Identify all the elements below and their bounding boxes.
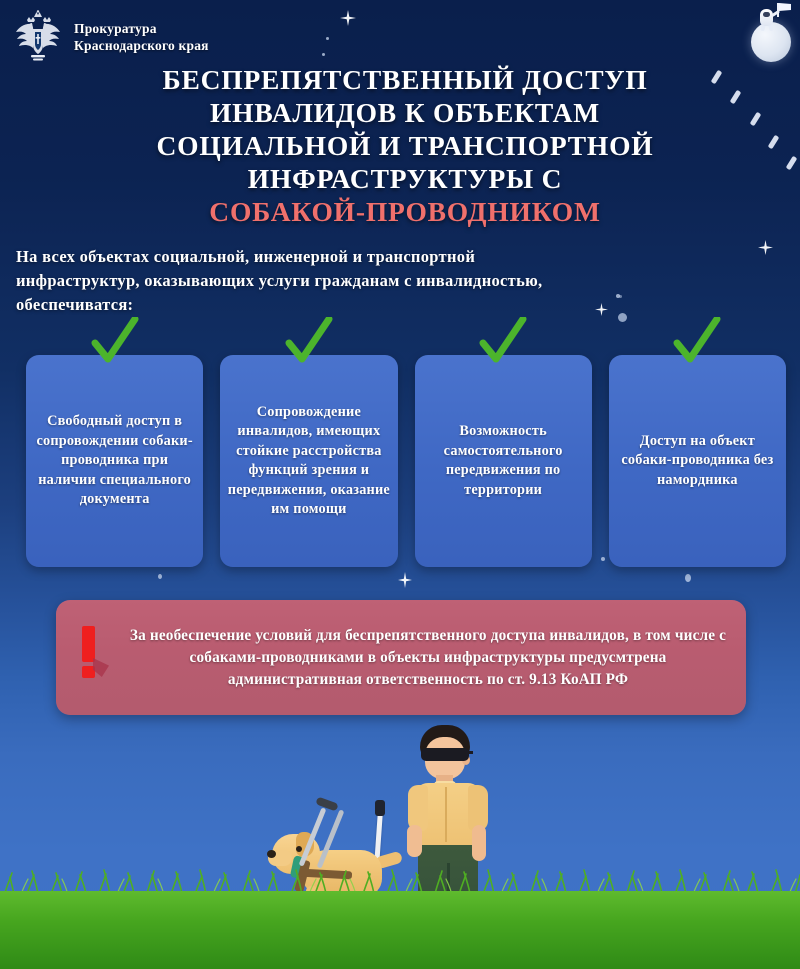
benefit-card-4-text: Доступ на объект собаки-проводника без н… xyxy=(616,432,779,491)
benefit-card-2[interactable]: Сопровождение инвалидов, имеющих стойкие… xyxy=(220,355,397,567)
trail-dash xyxy=(786,156,798,171)
harness-handle-grip xyxy=(315,796,338,811)
star-dot xyxy=(685,574,691,582)
benefits-card-row: Свободный доступ в сопровождении собаки-… xyxy=(26,355,786,567)
star-dot xyxy=(618,313,627,322)
title-line-1: БЕСПРЕПЯТСТВЕННЫЙ ДОСТУП xyxy=(60,63,750,96)
benefit-card-1-text: Свободный доступ в сопровождении собаки-… xyxy=(33,412,196,510)
brand-text-block: Прокуратура Краснодарского края xyxy=(74,20,209,54)
sparkle-icon xyxy=(340,10,356,26)
title-accent-line: СОБАКОЙ-ПРОВОДНИКОМ xyxy=(60,195,750,228)
star-dot xyxy=(619,295,622,298)
sparkle-icon xyxy=(595,303,608,316)
dog-eye xyxy=(296,846,302,852)
sparkle-icon xyxy=(398,572,412,588)
benefit-card-3-text: Возможность самостоятельного передвижени… xyxy=(422,422,585,500)
star-dot xyxy=(322,53,325,56)
green-check-icon xyxy=(89,317,141,365)
benefit-card-2-text: Сопровождение инвалидов, имеющих стойкие… xyxy=(227,403,390,520)
warning-banner-text: За необеспечение условий для беспрепятст… xyxy=(126,625,746,691)
green-check-icon xyxy=(477,317,529,365)
green-check-icon xyxy=(671,317,723,365)
cane-grip xyxy=(375,800,385,816)
title-line-2: ИНВАЛИДОВ К ОБЪЕКТАМ xyxy=(60,96,750,129)
benefit-card-1[interactable]: Свободный доступ в сопровождении собаки-… xyxy=(26,355,203,567)
benefit-card-4[interactable]: Доступ на объект собаки-проводника без н… xyxy=(609,355,786,567)
intro-paragraph: На всех объектах социальной, инженерной … xyxy=(16,245,576,317)
red-exclamation-icon xyxy=(56,600,126,715)
exclamation-shadow xyxy=(93,658,109,677)
benefit-card-3[interactable]: Возможность самостоятельного передвижени… xyxy=(415,355,592,567)
title-line-4: ИНФРАСТРУКТУРЫ С xyxy=(60,162,750,195)
star-dot xyxy=(158,574,162,579)
trail-dash xyxy=(768,135,780,150)
sleeve-left xyxy=(408,785,428,831)
brand-header: Прокуратура Краснодарского края xyxy=(14,10,209,64)
shirt-placket xyxy=(445,787,447,842)
brand-line-2: Краснодарского края xyxy=(74,37,209,54)
arm-left xyxy=(407,825,422,857)
exclamation-bar xyxy=(82,626,95,662)
green-check-icon xyxy=(283,317,335,365)
dog-nose xyxy=(267,850,276,858)
page-title: БЕСПРЕПЯТСТВЕННЫЙ ДОСТУП ИНВАЛИДОВ К ОБЪ… xyxy=(60,63,750,228)
infographic-poster: Прокуратура Краснодарского края БЕСПРЕПЯ… xyxy=(0,0,800,969)
astronaut-flag-pole xyxy=(777,3,779,17)
astronaut-visor xyxy=(763,12,770,17)
arm-right xyxy=(472,825,486,861)
title-line-3: СОЦИАЛЬНОЙ И ТРАНСПОРТНОЙ xyxy=(60,129,750,162)
warning-banner: За необеспечение условий для беспрепятст… xyxy=(56,600,746,715)
brand-line-1: Прокуратура xyxy=(74,20,209,37)
trail-dash xyxy=(750,112,762,127)
prosecutor-eagle-emblem xyxy=(14,10,62,64)
grass-ground xyxy=(0,891,800,969)
astronaut-flag xyxy=(779,3,791,11)
sunglasses-icon xyxy=(421,748,469,761)
sparkle-icon xyxy=(758,240,773,255)
blind-man-with-guide-dog-on-grass xyxy=(0,700,800,969)
star-dot xyxy=(326,37,329,40)
